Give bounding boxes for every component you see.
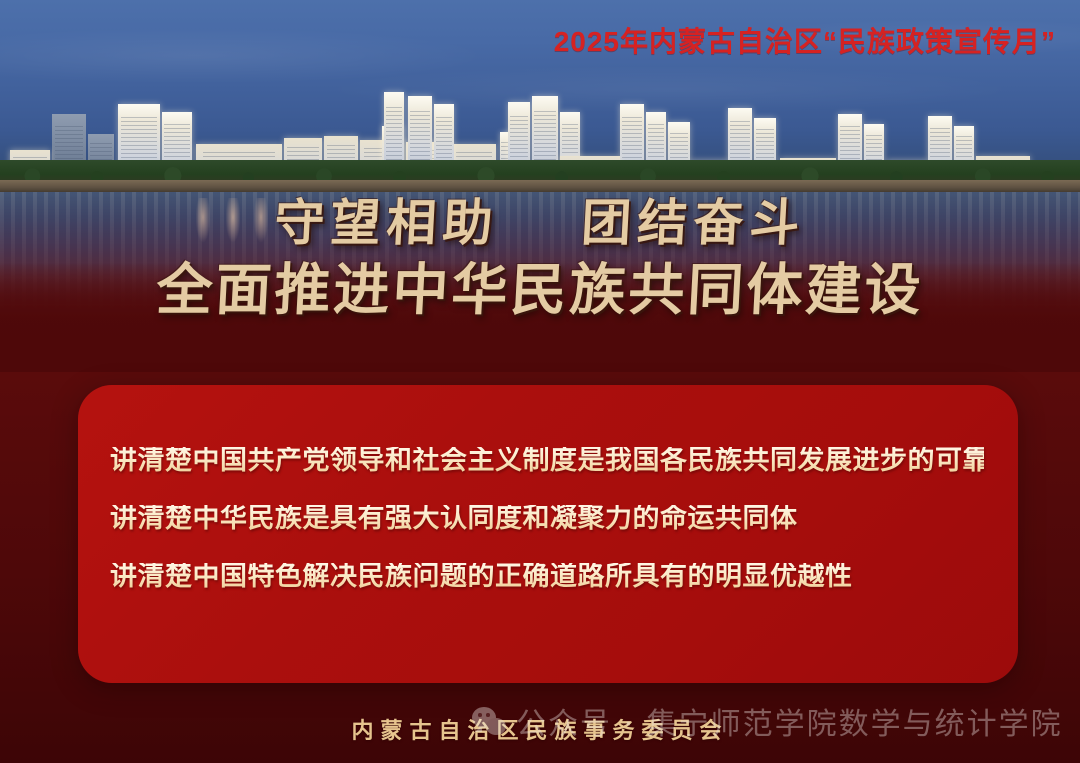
- hero-title-line-2: 全面推进中华民族共同体建设: [0, 262, 1080, 318]
- poster-canvas: 2025年内蒙古自治区“民族政策宣传月” 守望相助 团结奋斗 全面推进中华民族共…: [0, 0, 1080, 763]
- slogan-line-3: 讲清楚中国特色解决民族问题的正确道路所具有的明显优越性: [110, 563, 984, 590]
- footer-organization: 内蒙古自治区民族事务委员会: [351, 713, 728, 745]
- hero-title-phrase-2: 团结奋斗: [580, 193, 807, 252]
- hero-title: 守望相助 团结奋斗 全面推进中华民族共同体建设: [0, 198, 1080, 318]
- hero-title-line-1: 守望相助 团结奋斗: [0, 198, 1080, 248]
- footer: 内蒙古自治区民族事务委员会: [0, 713, 1080, 745]
- hero-title-phrase-1: 守望相助: [273, 193, 500, 252]
- slogan-line-1: 讲清楚中国共产党领导和社会主义制度是我国各民族共同发展进步的可靠保障: [110, 447, 984, 474]
- slogan-card: 讲清楚中国共产党领导和社会主义制度是我国各民族共同发展进步的可靠保障 讲清楚中华…: [78, 385, 1018, 683]
- banner-title: 2025年内蒙古自治区“民族政策宣传月”: [554, 20, 1056, 60]
- slogan-line-2: 讲清楚中华民族是具有强大认同度和凝聚力的命运共同体: [110, 505, 984, 532]
